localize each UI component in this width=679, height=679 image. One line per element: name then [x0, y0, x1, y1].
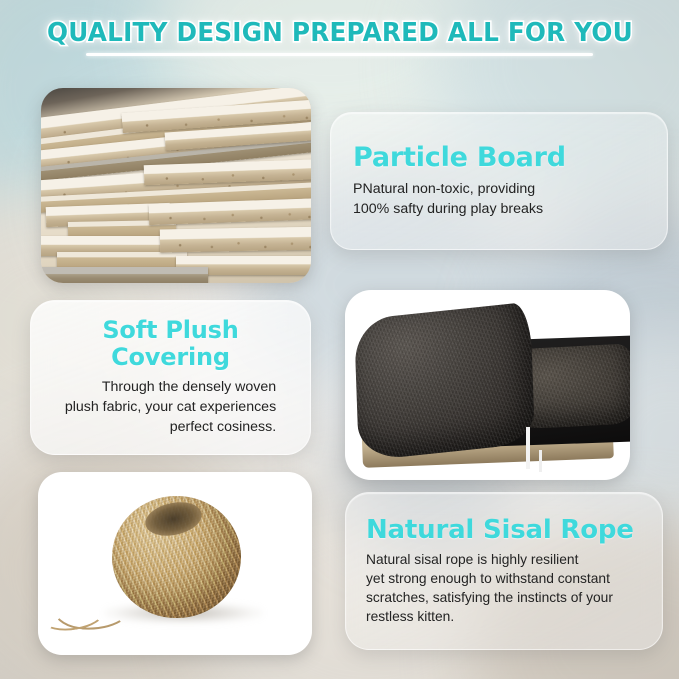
feature-body-line: yet strong enough to withstand constant — [366, 569, 644, 588]
feature-body-line: PNatural non-toxic, providing — [353, 179, 649, 199]
feature-body-line: plush fabric, your cat experiences — [65, 397, 276, 417]
feature-body-particle-board: PNatural non-toxic, providing 100% safty… — [353, 179, 649, 219]
product-feature-infographic: QUALITY DESIGN PREPARED ALL FOR YOU Part… — [0, 0, 679, 679]
banner-underline — [86, 53, 593, 56]
soft-plush-photo — [345, 290, 630, 480]
particle-board-text-card: Particle Board PNatural non-toxic, provi… — [330, 112, 668, 250]
sisal-rope-photo — [38, 472, 312, 655]
feature-body-sisal-rope: Natural sisal rope is highly resilient y… — [366, 550, 644, 626]
feature-title-soft-plush: Soft Plush Covering — [45, 317, 296, 371]
plush-support-post — [526, 427, 530, 469]
particle-board-photo — [41, 88, 311, 283]
fur-texture — [354, 302, 535, 461]
feature-title-sisal-rope: Natural Sisal Rope — [366, 516, 644, 545]
plush-support-post — [539, 450, 542, 473]
plush-fold-main — [354, 302, 535, 461]
feature-body-line: Natural sisal rope is highly resilient — [366, 550, 644, 569]
sisal-rope-image — [38, 472, 312, 655]
plush-fabric-image — [345, 290, 630, 480]
banner-header: QUALITY DESIGN PREPARED ALL FOR YOU — [0, 18, 679, 56]
feature-title-particle-board: Particle Board — [353, 143, 649, 173]
feature-body-line: 100% safty during play breaks — [353, 199, 649, 219]
rope-ball — [112, 496, 241, 619]
feature-body-line: Through the densely woven — [65, 377, 276, 397]
banner-title: QUALITY DESIGN PREPARED ALL FOR YOU — [47, 18, 633, 48]
soft-plush-text-card: Soft Plush Covering Through the densely … — [30, 300, 311, 455]
sisal-rope-text-card: Natural Sisal Rope Natural sisal rope is… — [345, 492, 663, 650]
particle-board-image — [41, 88, 311, 283]
feature-body-soft-plush: Through the densely woven plush fabric, … — [65, 377, 276, 437]
feature-body-line: restless kitten. — [366, 607, 644, 626]
feature-body-line: perfect cosiness. — [65, 417, 276, 437]
feature-body-line: scratches, satisfying the instincts of y… — [366, 588, 644, 607]
